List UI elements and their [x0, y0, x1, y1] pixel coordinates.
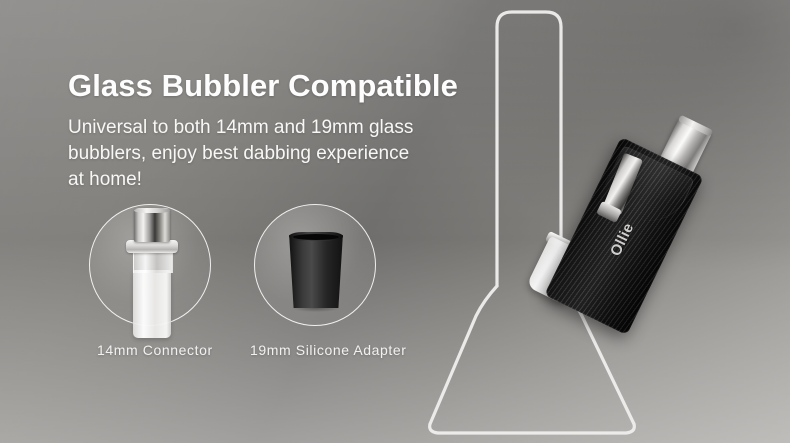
callout-connector-caption: 14mm Connector — [97, 342, 213, 358]
connector-chrome-rim — [134, 208, 170, 213]
connector-chrome-top — [134, 208, 170, 242]
connector-frosted-body — [133, 270, 171, 338]
glass-connector-icon — [120, 208, 182, 340]
silicone-adapter-icon — [288, 232, 344, 308]
product-feature-banner: Glass Bubbler Compatible Universal to bo… — [0, 0, 790, 443]
body-line-3: at home! — [68, 167, 438, 193]
connector-clear-band — [133, 251, 173, 273]
body-line-1: Universal to both 14mm and 19mm glass — [68, 115, 438, 141]
device-brand-logo: Ollie — [607, 220, 637, 258]
body-copy: Universal to both 14mm and 19mm glass bu… — [68, 115, 438, 193]
adapter-body — [288, 232, 344, 308]
callout-adapter-caption: 19mm Silicone Adapter — [250, 342, 407, 358]
page-title: Glass Bubbler Compatible — [68, 68, 458, 104]
body-line-2: bubblers, enjoy best dabbing experience — [68, 141, 438, 167]
adapter-rim-inner — [293, 234, 339, 240]
